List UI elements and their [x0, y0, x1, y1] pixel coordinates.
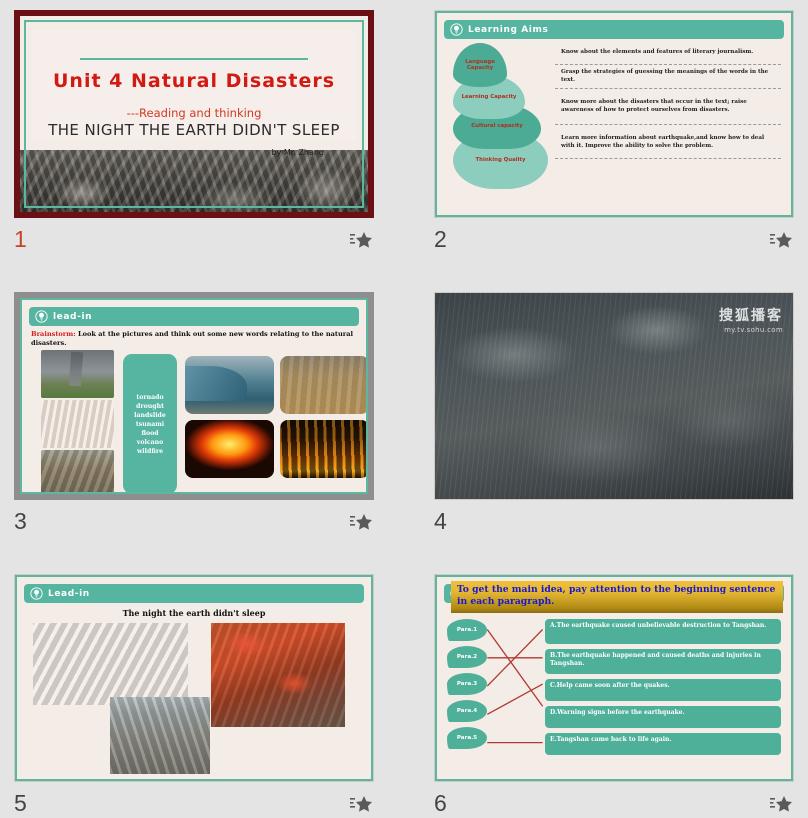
paragraph-badges: Para.1 Para.2 Para.3 Para.4 Para.5	[447, 619, 489, 773]
slide-thumbnail-5[interactable]: Lead-in The night the earth didn't sleep	[14, 574, 374, 782]
slide-3-canvas: lead-in Brainstorm: Look at the pictures…	[20, 298, 368, 494]
para-badge[interactable]: Para.1	[447, 619, 487, 641]
slide-thumbnail-2[interactable]: Learning Aims Thinking Quality Cultural …	[434, 10, 794, 218]
sohu-watermark: 搜狐播客 my.tv.sohu.com	[719, 305, 783, 334]
slide-cell-2: Learning Aims Thinking Quality Cultural …	[404, 0, 808, 282]
slide-number-1: 1	[14, 226, 27, 252]
slide-thumbnail-3[interactable]: lead-in Brainstorm: Look at the pictures…	[14, 292, 374, 500]
animation-star-icon[interactable]	[770, 795, 794, 813]
brainstorm-prompt: Brainstorm: Look at the pictures and thi…	[31, 330, 357, 347]
matching-options: A.The earthquake caused unbelievable des…	[545, 619, 781, 773]
aim-item: Learn more information about earthquake,…	[555, 131, 781, 159]
slide-5-header: Lead-in	[24, 584, 364, 603]
slide-cell-1: Unit 4 Natural Disasters ---Reading and …	[0, 0, 404, 282]
word-item: tornado	[136, 394, 163, 401]
animation-star-icon[interactable]	[770, 231, 794, 249]
slide-2-header: Learning Aims	[444, 20, 784, 39]
slide-6-canvas: To get the main idea, pay attention to t…	[435, 575, 793, 781]
wildfire-photo	[280, 420, 368, 478]
slide-cell-6: To get the main idea, pay attention to t…	[404, 564, 808, 811]
tornado-photo	[41, 350, 114, 398]
video-still-photo: 搜狐播客 my.tv.sohu.com	[435, 293, 793, 499]
slide-3-caption: 3	[14, 508, 374, 536]
main-idea-banner: To get the main idea, pay attention to t…	[451, 581, 783, 613]
slide-1-title-card: Unit 4 Natural Disasters ---Reading and …	[32, 30, 356, 140]
slide-number-5: 5	[14, 790, 27, 816]
slide-3-header: lead-in	[29, 307, 359, 326]
lightbulb-icon	[35, 310, 48, 323]
slide-5-caption: 5	[14, 790, 374, 818]
option-item[interactable]: E.Tangshan came back to life again.	[545, 733, 781, 755]
vocabulary-word-list: tornado drought landslide tsunami flood …	[123, 354, 177, 494]
slide-5-canvas: Lead-in The night the earth didn't sleep	[15, 575, 373, 781]
slide-2-header-label: Learning Aims	[468, 25, 548, 35]
slide-number-2: 2	[434, 226, 447, 252]
para-badge[interactable]: Para.3	[447, 673, 487, 695]
slide-6-caption: 6	[434, 790, 794, 818]
aim-item: Know about the elements and features of …	[555, 45, 781, 65]
option-item[interactable]: D.Warning signs before the earthquake.	[545, 706, 781, 728]
animation-star-icon[interactable]	[350, 795, 374, 813]
slide-5-header-label: Lead-in	[48, 589, 90, 599]
slide-4-canvas: 搜狐播客 my.tv.sohu.com	[435, 293, 793, 499]
slide-3-header-label: lead-in	[53, 312, 92, 322]
slide-cell-5: Lead-in The night the earth didn't sleep…	[0, 564, 404, 811]
learning-aims-list: Know about the elements and features of …	[555, 45, 781, 159]
slide-2-caption: 2	[434, 226, 794, 254]
slide-number-4: 4	[434, 508, 447, 534]
slide-2-canvas: Learning Aims Thinking Quality Cultural …	[435, 11, 793, 217]
slide-thumbnail-grid: Unit 4 Natural Disasters ---Reading and …	[0, 0, 808, 811]
slide-cell-4: 搜狐播客 my.tv.sohu.com 4	[404, 282, 808, 564]
word-item: drought	[136, 403, 164, 410]
slide-number-6: 6	[434, 790, 447, 816]
word-item: landslide	[134, 412, 166, 419]
watermark-cn-text: 搜狐播客	[719, 305, 783, 325]
slide-thumbnail-1[interactable]: Unit 4 Natural Disasters ---Reading and …	[14, 10, 374, 218]
slide-1-canvas: Unit 4 Natural Disasters ---Reading and …	[20, 16, 368, 212]
option-item[interactable]: A.The earthquake caused unbelievable des…	[545, 619, 781, 644]
word-item: volcano	[137, 439, 163, 446]
slide-1-title: Unit 4 Natural Disasters	[32, 70, 356, 92]
word-item: tsunami	[136, 421, 164, 428]
word-item: wildfire	[137, 448, 163, 455]
slide-1-caption: 1	[14, 226, 374, 254]
animation-star-icon[interactable]	[350, 231, 374, 249]
pyramid-layer-language: Language Capacity	[453, 43, 507, 87]
brainstorm-text: Look at the pictures and think out some …	[31, 330, 353, 347]
para-badge[interactable]: Para.4	[447, 700, 487, 722]
capability-pyramid: Thinking Quality Cultural capacity Learn…	[453, 43, 548, 193]
option-item[interactable]: C.Help came soon after the quakes.	[545, 679, 781, 701]
disaster-photo-grid: tornado drought landslide tsunami flood …	[31, 350, 357, 484]
slide-4-caption: 4	[434, 508, 794, 536]
rescue-workers-photo	[211, 623, 345, 727]
title-rule	[80, 58, 308, 60]
slide-1-heading: THE NIGHT THE EARTH DIDN'T SLEEP	[32, 121, 356, 139]
word-item: flood	[141, 430, 158, 437]
tsunami-photo	[185, 356, 274, 414]
drought-photo	[41, 400, 114, 448]
animation-star-icon[interactable]	[350, 513, 374, 531]
para-badge[interactable]: Para.2	[447, 646, 487, 668]
para-badge[interactable]: Para.5	[447, 727, 487, 749]
cracked-ground-photo	[110, 697, 210, 774]
watermark-url-text: my.tv.sohu.com	[719, 326, 783, 334]
slide-1-byline: by Mr. Zhang	[272, 148, 325, 157]
volcano-photo	[185, 420, 274, 478]
lightbulb-icon	[450, 23, 463, 36]
aim-item: Grasp the strategies of guessing the mea…	[555, 65, 781, 89]
slide-number-3: 3	[14, 508, 27, 534]
brainstorm-label: Brainstorm:	[31, 330, 76, 338]
slide-1-subtitle: ---Reading and thinking	[32, 106, 356, 120]
flood-photo	[280, 356, 368, 414]
collapsed-building-photo	[33, 623, 188, 705]
option-item[interactable]: B.The earthquake happened and caused dea…	[545, 649, 781, 674]
slide-thumbnail-4[interactable]: 搜狐播客 my.tv.sohu.com	[434, 292, 794, 500]
landslide-photo	[41, 450, 114, 494]
slide-thumbnail-6[interactable]: To get the main idea, pay attention to t…	[434, 574, 794, 782]
slide-5-title: The night the earth didn't sleep	[17, 608, 371, 618]
slide-cell-3: lead-in Brainstorm: Look at the pictures…	[0, 282, 404, 564]
lightbulb-icon	[30, 587, 43, 600]
aim-item: Know more about the disasters that occur…	[555, 95, 781, 125]
